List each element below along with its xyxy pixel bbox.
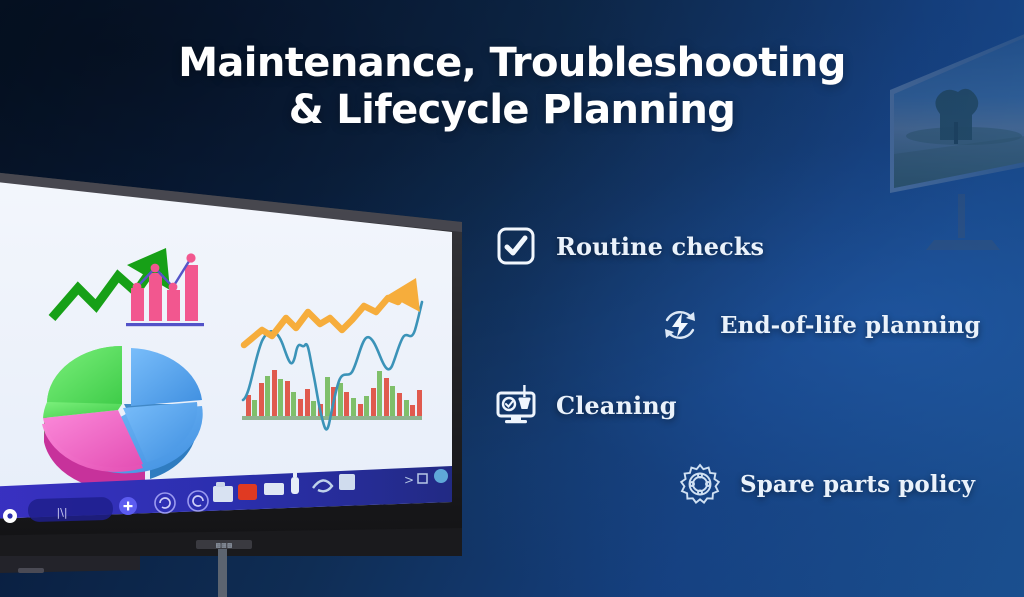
feature-label: End-of-life planning (720, 312, 981, 339)
taskbar-settings-gear-icon[interactable] (3, 509, 17, 523)
feature-item-routine-checks[interactable]: Routine checks (494, 224, 764, 268)
taskbar-app-whiteboard-icon[interactable] (264, 483, 284, 495)
panel-base-detail (18, 568, 44, 573)
checkbox-check-icon (494, 224, 538, 268)
panel-brand-label: ▩▩▩ (215, 542, 232, 549)
feature-item-cleaning[interactable]: Cleaning (494, 383, 677, 427)
feature-label: Routine checks (556, 232, 764, 261)
feature-label: Spare parts policy (740, 471, 975, 498)
gear-icon (678, 462, 722, 506)
taskbar-tray-browser-icon[interactable] (434, 469, 448, 483)
feature-item-end-of-life-planning[interactable]: End-of-life planning (658, 303, 981, 347)
taskbar-add-button[interactable] (119, 497, 137, 515)
panel-stand: ▩▩▩ (196, 540, 252, 597)
taskbar-app-screenshot-icon[interactable] (339, 474, 355, 490)
title-line-2: & Lifecycle Planning (0, 87, 1024, 134)
feature-item-spare-parts-policy[interactable]: Spare parts policy (678, 462, 975, 506)
taskbar-tray-expand-icon[interactable]: > (404, 473, 414, 487)
feature-label: Cleaning (556, 391, 677, 420)
taskbar-pill-label: |\| (56, 506, 67, 519)
title-line-1: Maintenance, Troubleshooting (178, 40, 846, 86)
taskbar-pill[interactable] (28, 497, 114, 522)
taskbar-app-toolbox-icon[interactable] (238, 484, 257, 500)
page-title: Maintenance, Troubleshooting & Lifecycle… (0, 40, 1024, 134)
monitor-brush-icon (494, 383, 538, 427)
recycle-lightning-icon (658, 303, 702, 347)
